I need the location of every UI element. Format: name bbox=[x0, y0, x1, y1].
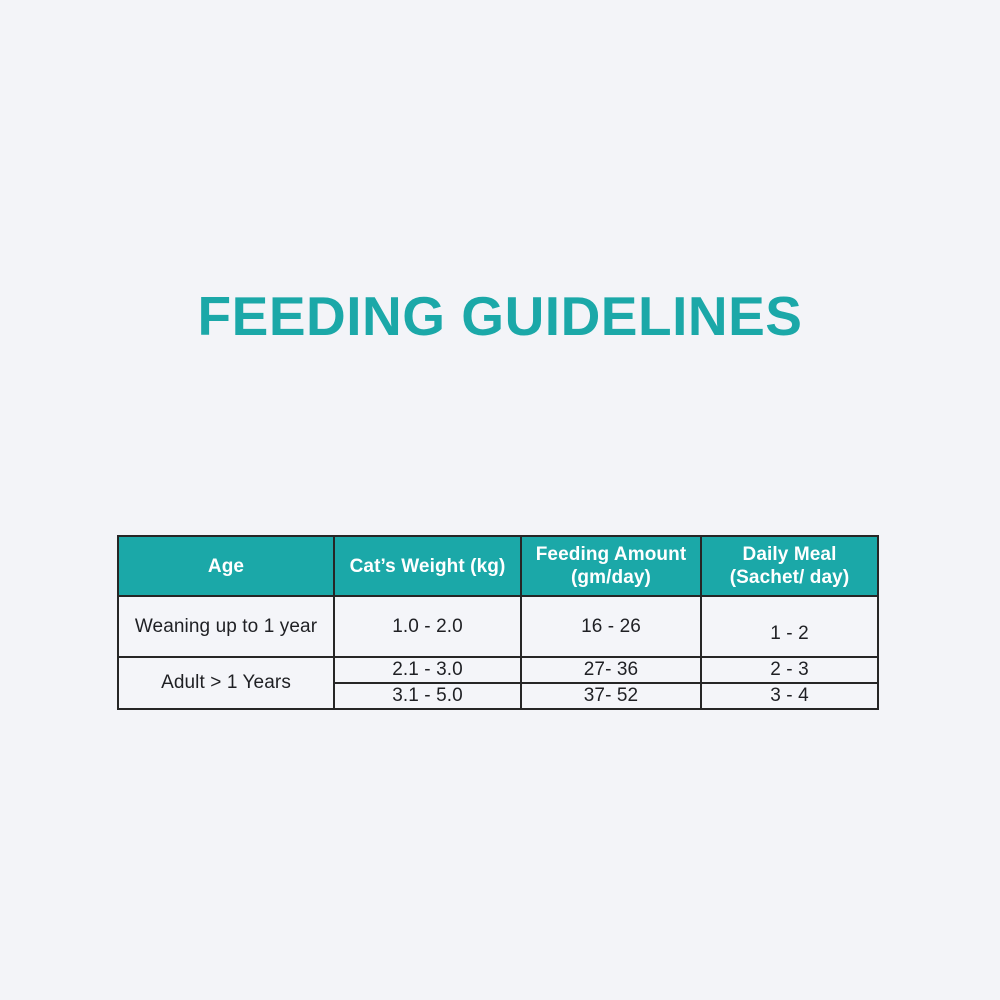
cell-amount-adult-1: 27- 36 bbox=[521, 657, 701, 683]
column-header-daily-meal-line2: (Sachet/ day) bbox=[730, 567, 850, 588]
table-body: Weaning up to 1 year 1.0 - 2.0 16 - 26 1… bbox=[118, 596, 878, 709]
cell-weight-adult-1: 2.1 - 3.0 bbox=[334, 657, 521, 683]
feeding-guidelines-table: Age Cat’s Weight (kg) Feeding Amount (gm… bbox=[117, 535, 879, 710]
column-header-feeding-amount: Feeding Amount (gm/day) bbox=[521, 536, 701, 596]
column-header-daily-meal: Daily Meal (Sachet/ day) bbox=[701, 536, 878, 596]
cell-weight-weaning: 1.0 - 2.0 bbox=[334, 596, 521, 657]
column-header-age: Age bbox=[118, 536, 334, 596]
table-header: Age Cat’s Weight (kg) Feeding Amount (gm… bbox=[118, 536, 878, 596]
column-header-feeding-amount-line2: (gm/day) bbox=[571, 567, 651, 588]
table-row: Adult > 1 Years 2.1 - 3.0 27- 36 2 - 3 bbox=[118, 657, 878, 683]
cell-weight-adult-2: 3.1 - 5.0 bbox=[334, 683, 521, 709]
column-header-daily-meal-line1: Daily Meal bbox=[743, 544, 837, 565]
column-header-cat-weight: Cat’s Weight (kg) bbox=[334, 536, 521, 596]
column-header-feeding-amount-line1: Feeding Amount bbox=[536, 544, 687, 565]
cell-meal-adult-2: 3 - 4 bbox=[701, 683, 878, 709]
cell-amount-adult-2: 37- 52 bbox=[521, 683, 701, 709]
cell-meal-adult-1: 2 - 3 bbox=[701, 657, 878, 683]
page-title: FEEDING GUIDELINES bbox=[0, 284, 1000, 348]
cell-amount-weaning: 16 - 26 bbox=[521, 596, 701, 657]
table-row: Weaning up to 1 year 1.0 - 2.0 16 - 26 1… bbox=[118, 596, 878, 657]
cell-age-adult: Adult > 1 Years bbox=[118, 657, 334, 709]
table-header-row: Age Cat’s Weight (kg) Feeding Amount (gm… bbox=[118, 536, 878, 596]
cell-meal-weaning: 1 - 2 bbox=[701, 596, 878, 657]
cell-age-weaning: Weaning up to 1 year bbox=[118, 596, 334, 657]
